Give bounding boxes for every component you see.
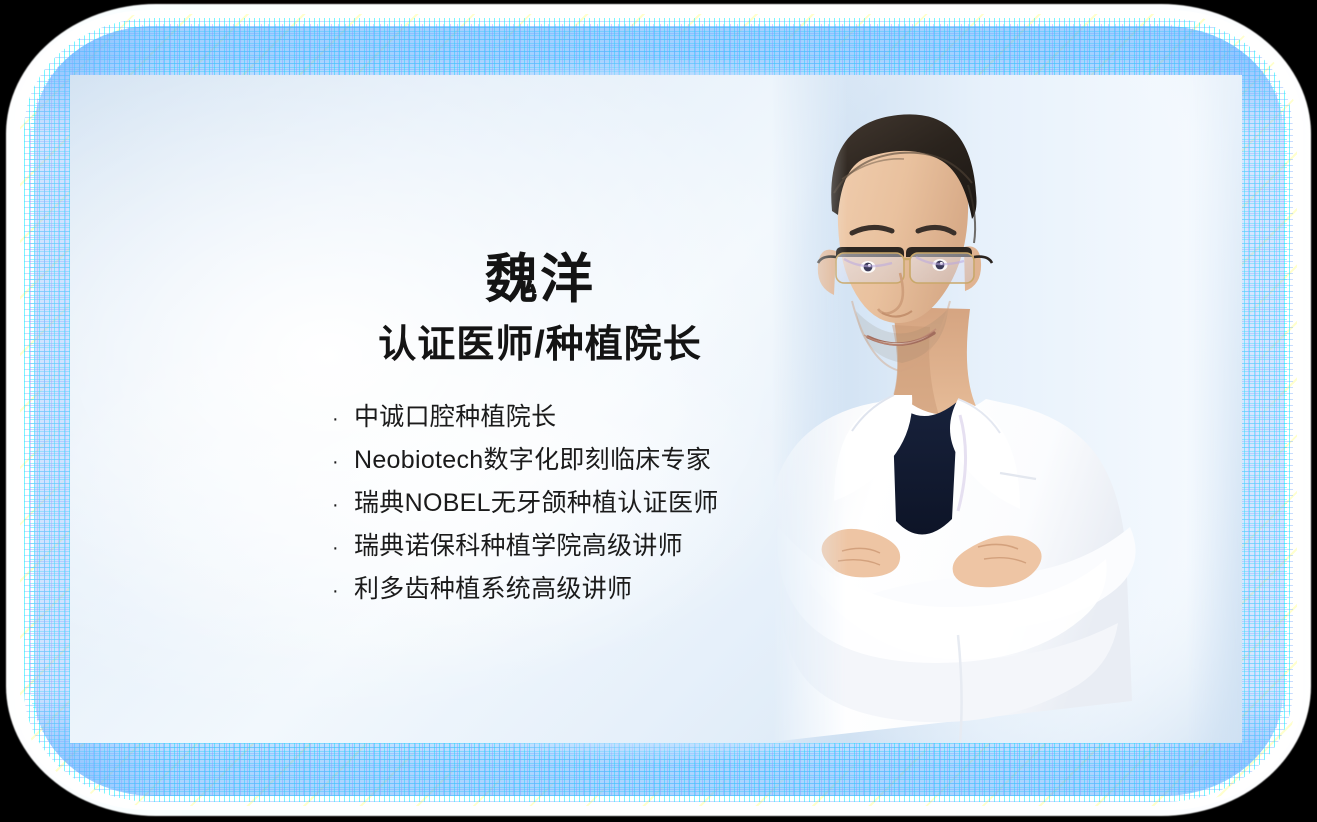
doctor-name: 魏洋 [330,253,750,306]
poster-canvas: 魏洋 认证医师/种植院长 · 中诚口腔种植院长 · Neobiotech数字化即… [0,0,1317,822]
credential-text: Neobiotech数字化即刻临床专家 [354,440,711,481]
list-item: · 瑞典NOBEL无牙颌种植认证医师 [332,483,892,526]
bullet-dot-icon: · [332,485,354,526]
credential-text: 利多齿种植系统高级讲师 [354,569,632,610]
credential-text: 中诚口腔种植院长 [354,397,556,438]
doctor-role-title: 认证医师/种植院长 [230,325,850,367]
list-item: · 瑞典诺保科种植学院高级讲师 [332,526,892,569]
bullet-dot-icon: · [332,442,354,483]
credential-text: 瑞典NOBEL无牙颌种植认证医师 [354,483,719,524]
credential-text: 瑞典诺保科种植学院高级讲师 [354,526,683,567]
credentials-list: · 中诚口腔种植院长 · Neobiotech数字化即刻临床专家 · 瑞典NOB… [332,397,892,612]
bullet-dot-icon: · [332,528,354,569]
list-item: · 利多齿种植系统高级讲师 [332,569,892,612]
profile-card: 魏洋 认证医师/种植院长 · 中诚口腔种植院长 · Neobiotech数字化即… [70,75,1242,743]
bullet-dot-icon: · [332,571,354,612]
list-item: · Neobiotech数字化即刻临床专家 [332,440,892,483]
bullet-dot-icon: · [332,399,354,440]
list-item: · 中诚口腔种植院长 [332,397,892,440]
